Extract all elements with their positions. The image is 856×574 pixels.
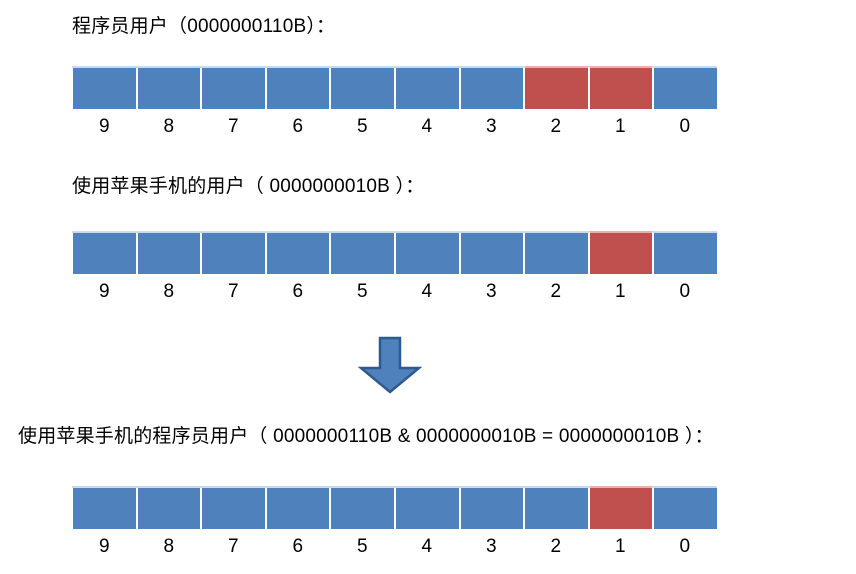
bit-label-row: 9 8 7 6 5 4 3 2 1 0 <box>72 280 717 304</box>
bit-label-row: 9 8 7 6 5 4 3 2 1 0 <box>72 115 717 139</box>
bit-cell-7[interactable] <box>201 233 266 274</box>
bit-label-row: 9 8 7 6 5 4 3 2 1 0 <box>72 535 717 559</box>
bit-strip-iphone-programmer-users: 9 8 7 6 5 4 3 2 1 0 <box>72 486 717 559</box>
bit-label-6: 6 <box>266 115 331 139</box>
bit-label-6: 6 <box>266 535 331 559</box>
bit-label-8: 8 <box>137 115 202 139</box>
bit-label-9: 9 <box>72 535 137 559</box>
bit-label-3: 3 <box>459 115 524 139</box>
bit-label-6: 6 <box>266 280 331 304</box>
bit-cell-2[interactable] <box>524 233 589 274</box>
bit-cell-7[interactable] <box>201 68 266 109</box>
bit-cell-5[interactable] <box>330 68 395 109</box>
bit-cell-8[interactable] <box>137 488 202 529</box>
bit-label-2: 2 <box>524 115 589 139</box>
bit-label-9: 9 <box>72 280 137 304</box>
bit-label-4: 4 <box>395 280 460 304</box>
bit-cell-4[interactable] <box>395 233 460 274</box>
bit-cell-1[interactable] <box>589 486 654 529</box>
bit-label-5: 5 <box>330 115 395 139</box>
bit-cell-6[interactable] <box>266 68 331 109</box>
bit-label-4: 4 <box>395 115 460 139</box>
bit-cell-1[interactable] <box>589 231 654 274</box>
bit-label-9: 9 <box>72 115 137 139</box>
bit-label-5: 5 <box>330 280 395 304</box>
bit-label-4: 4 <box>395 535 460 559</box>
bit-cell-9[interactable] <box>72 233 137 274</box>
bit-strip-row <box>72 231 717 274</box>
bit-cell-3[interactable] <box>460 488 525 529</box>
bit-label-8: 8 <box>137 280 202 304</box>
bit-strip-programmer-users: 9 8 7 6 5 4 3 2 1 0 <box>72 66 717 139</box>
bit-label-2: 2 <box>524 280 589 304</box>
bit-label-1: 1 <box>588 115 653 139</box>
bit-cell-3[interactable] <box>460 68 525 109</box>
section-title-iphone-programmer-users: 使用苹果手机的程序员用户（ 0000000110B & 0000000010B … <box>18 424 714 450</box>
bit-label-7: 7 <box>201 115 266 139</box>
bit-cell-6[interactable] <box>266 488 331 529</box>
bit-cell-3[interactable] <box>460 233 525 274</box>
down-arrow-icon <box>358 336 422 394</box>
bit-cell-1[interactable] <box>589 66 654 109</box>
bit-label-1: 1 <box>588 535 653 559</box>
section-title-programmer-users: 程序员用户（0000000110B）： <box>72 14 335 40</box>
bit-cell-7[interactable] <box>201 488 266 529</box>
bit-cell-2[interactable] <box>524 488 589 529</box>
bit-strip-row <box>72 66 717 109</box>
bit-cell-0[interactable] <box>653 233 717 274</box>
bit-cell-8[interactable] <box>137 233 202 274</box>
bit-cell-2[interactable] <box>524 66 589 109</box>
bit-strip-row <box>72 486 717 529</box>
bit-cell-5[interactable] <box>330 488 395 529</box>
bit-cell-8[interactable] <box>137 68 202 109</box>
bit-cell-6[interactable] <box>266 233 331 274</box>
bit-label-7: 7 <box>201 535 266 559</box>
bit-cell-0[interactable] <box>653 68 717 109</box>
bit-cell-5[interactable] <box>330 233 395 274</box>
bit-cell-4[interactable] <box>395 488 460 529</box>
section-title-iphone-users: 使用苹果手机的用户（ 0000000010B ）： <box>72 174 424 200</box>
bit-label-3: 3 <box>459 280 524 304</box>
bit-label-2: 2 <box>524 535 589 559</box>
bit-cell-0[interactable] <box>653 488 717 529</box>
bit-strip-iphone-users: 9 8 7 6 5 4 3 2 1 0 <box>72 231 717 304</box>
bit-label-8: 8 <box>137 535 202 559</box>
bit-label-0: 0 <box>653 115 718 139</box>
bit-label-0: 0 <box>653 280 718 304</box>
bit-label-7: 7 <box>201 280 266 304</box>
bit-cell-9[interactable] <box>72 488 137 529</box>
bit-label-3: 3 <box>459 535 524 559</box>
bit-cell-4[interactable] <box>395 68 460 109</box>
bit-label-0: 0 <box>653 535 718 559</box>
bit-label-1: 1 <box>588 280 653 304</box>
diagram-canvas: 程序员用户（0000000110B）： 9 8 7 6 5 4 3 2 1 0 <box>0 0 856 574</box>
bit-label-5: 5 <box>330 535 395 559</box>
bit-cell-9[interactable] <box>72 68 137 109</box>
